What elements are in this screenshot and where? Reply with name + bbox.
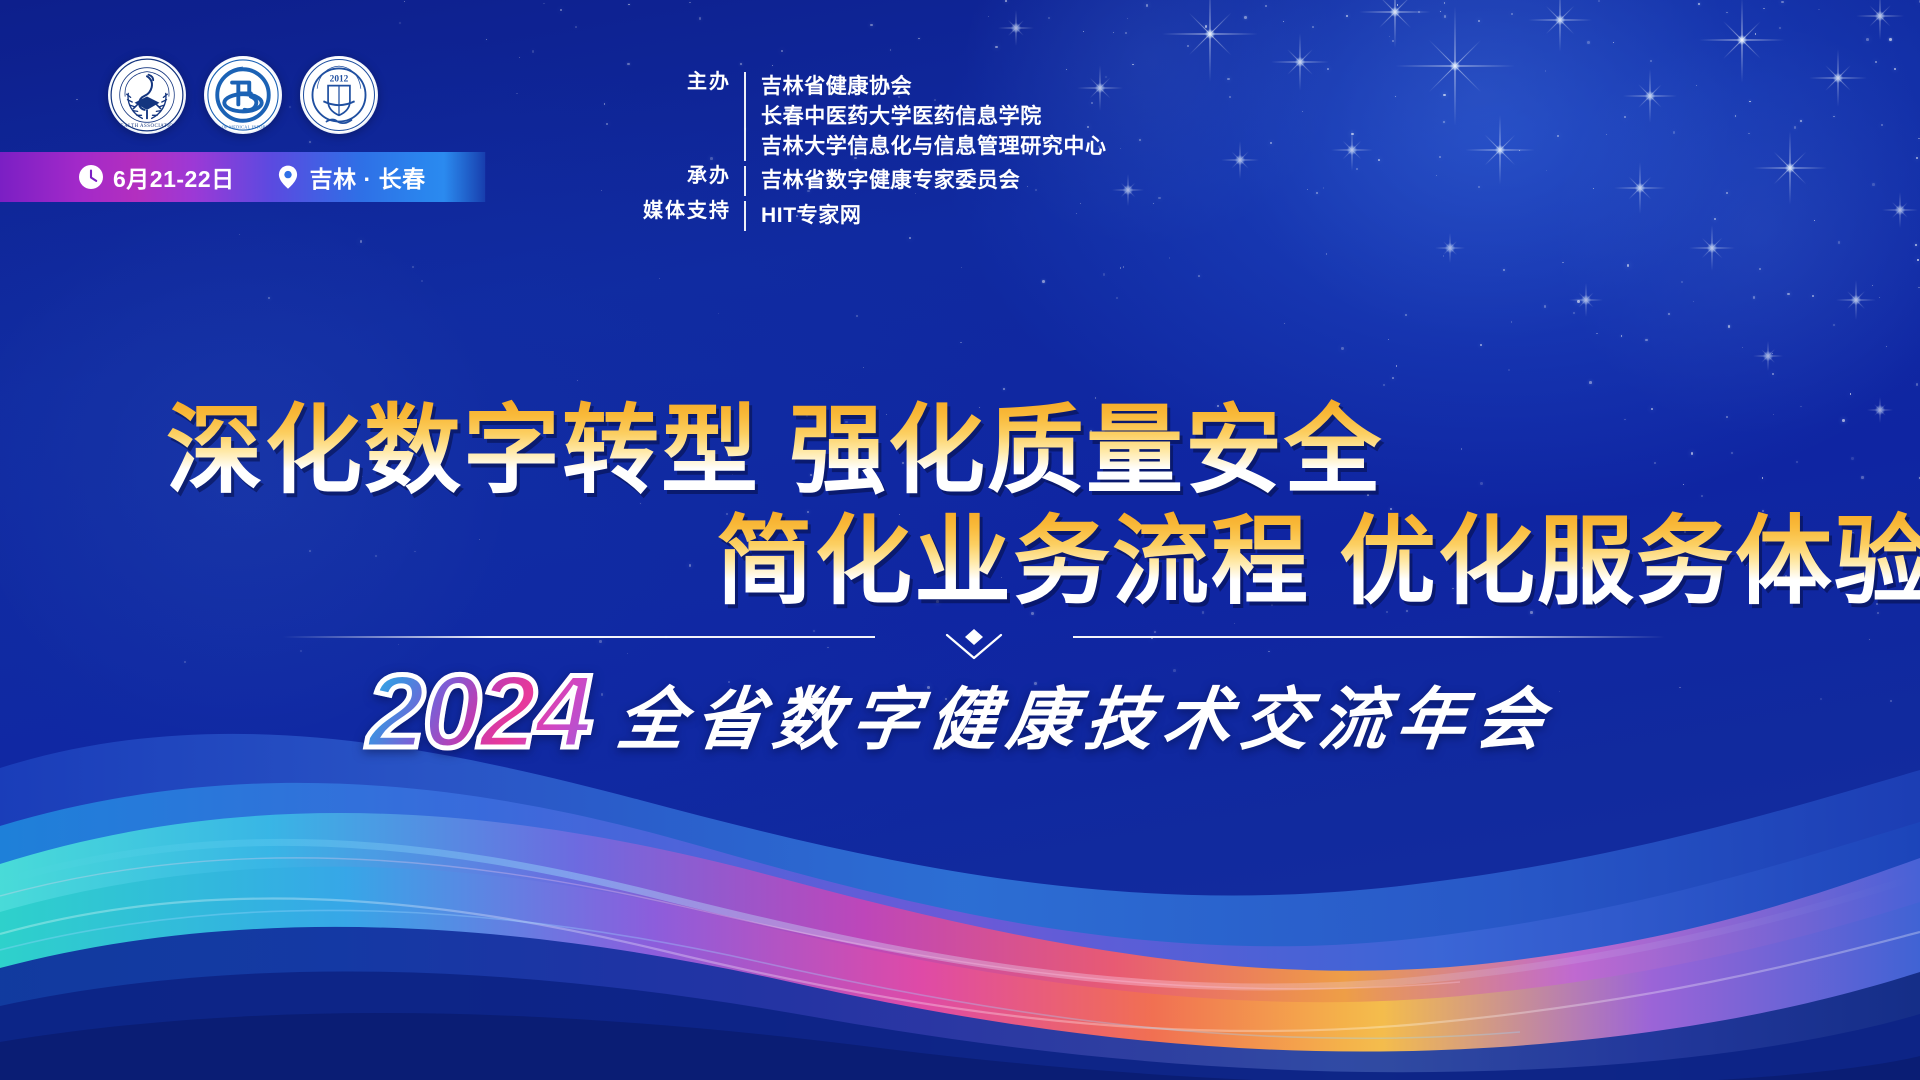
sparkle-star-icon — [1699, 0, 1785, 83]
location-pin-icon — [275, 164, 301, 190]
sparkle-star-icon — [1614, 162, 1666, 214]
headline-block: 深化数字转型 强化质量安全 简化业务流程 优化服务体验 — [0, 396, 1920, 617]
organizer-line: 长春中医药大学医药信息学院 — [761, 102, 1107, 132]
subtitle-block: 2024 全省数字健康技术交流年会 — [0, 654, 1920, 758]
event-name-text: 全省数字健康技术交流年会 — [613, 686, 1557, 754]
organizer-line: 吉林省健康协会 — [761, 72, 1107, 102]
conference-banner: HEALTH ASSOCIATION SCHOOL OF MEDICAL INF… — [0, 0, 1920, 1080]
organizer-values-host: 吉林省健康协会 长春中医药大学医药信息学院 吉林大学信息化与信息管理研究中心 — [744, 72, 1107, 161]
location-item: 吉林 · 长春 — [275, 160, 426, 194]
headline-line-2: 简化业务流程 优化服务体验 — [716, 507, 1920, 618]
jilin-health-association-logo: HEALTH ASSOCIATION — [108, 56, 186, 134]
organizer-group-coorganizer: 承办 吉林省数字健康专家委员会 — [640, 166, 1107, 196]
sparkle-star-icon — [1221, 141, 1259, 179]
sparkle-star-icon — [1271, 33, 1329, 91]
sparkle-star-icon — [1465, 115, 1535, 185]
organizer-label-host: 主办 — [640, 72, 744, 92]
sparkle-star-icon — [1753, 131, 1827, 205]
date-text: 6月21-22日 — [113, 160, 235, 194]
organizer-values-media: HIT专家网 — [744, 201, 861, 231]
clock-icon — [78, 164, 104, 190]
sparkle-star-icon — [1836, 280, 1876, 320]
date-location-bar: 6月21-22日 吉林 · 长春 — [0, 152, 485, 202]
sparkle-star-icon — [1623, 69, 1677, 123]
divider-rule-left — [283, 636, 875, 638]
organizer-line: 吉林大学信息化与信息管理研究中心 — [761, 132, 1107, 162]
svg-text:2012: 2012 — [330, 75, 349, 85]
sparkle-star-icon — [1528, 0, 1592, 52]
jilin-university-information-research-center-logo: 2012 — [300, 56, 378, 134]
organizer-group-media: 媒体支持 HIT专家网 — [640, 201, 1107, 231]
organizer-values-coorganizer: 吉林省数字健康专家委员会 — [744, 166, 1020, 196]
sparkle-star-icon — [1395, 6, 1515, 126]
sparkle-star-icon — [1359, 0, 1431, 48]
organizer-info-block: 主办 吉林省健康协会 长春中医药大学医药信息学院 吉林大学信息化与信息管理研究中… — [640, 72, 1107, 236]
sparkle-star-icon — [1112, 174, 1144, 206]
sparkle-star-icon — [1162, 0, 1258, 82]
sparkle-star-icon — [1689, 225, 1735, 271]
organizer-group-host: 主办 吉林省健康协会 长春中医药大学医药信息学院 吉林大学信息化与信息管理研究中… — [640, 72, 1107, 161]
headline-line-1: 深化数字转型 强化质量安全 — [166, 396, 1920, 507]
organizer-line: HIT专家网 — [761, 201, 861, 231]
location-text: 吉林 · 长春 — [310, 160, 426, 194]
svg-text:HEALTH ASSOCIATION: HEALTH ASSOCIATION — [117, 124, 178, 129]
organizer-logo-row: HEALTH ASSOCIATION SCHOOL OF MEDICAL INF… — [108, 56, 378, 134]
sparkle-star-icon — [1882, 192, 1918, 228]
organizer-line: 吉林省数字健康专家委员会 — [761, 166, 1020, 196]
sparkle-star-icon — [1809, 49, 1867, 107]
year-text: 2024 — [367, 660, 590, 764]
sparkle-star-icon — [1331, 129, 1373, 171]
sparkle-star-icon — [998, 10, 1034, 46]
sparkle-star-icon — [1856, 0, 1904, 40]
date-item: 6月21-22日 — [78, 160, 235, 194]
sparkle-star-icon — [1435, 233, 1465, 263]
sparkle-star-icon — [1753, 341, 1783, 371]
svg-text:SCHOOL OF MEDICAL INFORMATION: SCHOOL OF MEDICAL INFORMATION — [204, 125, 282, 130]
divider-rule-right — [1073, 636, 1665, 638]
changchun-medical-information-college-logo: SCHOOL OF MEDICAL INFORMATION — [204, 56, 282, 134]
organizer-label-media: 媒体支持 — [640, 201, 744, 221]
sparkle-star-icon — [1569, 283, 1603, 317]
organizer-label-coorganizer: 承办 — [640, 166, 744, 186]
